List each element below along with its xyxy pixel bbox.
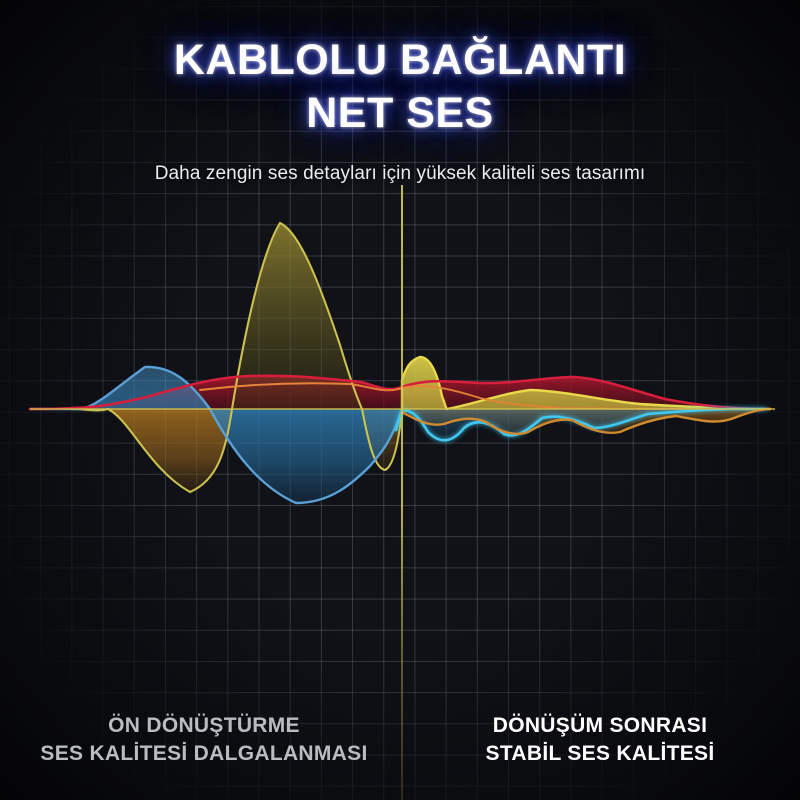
caption-left-line-2: SES KALİTESİ DALGALANMASI bbox=[8, 740, 400, 768]
title-line-1: KABLOLU BAĞLANTI bbox=[0, 34, 800, 87]
audio-waveform-banner: KABLOLU BAĞLANTI NET SES Daha zengin ses… bbox=[0, 0, 800, 800]
title-line-2: NET SES bbox=[0, 87, 800, 140]
conversion-divider-line bbox=[401, 185, 403, 800]
caption-after-conversion: DÖNÜŞÜM SONRASI STABİL SES KALİTESİ bbox=[404, 712, 796, 768]
caption-right-line-1: DÖNÜŞÜM SONRASI bbox=[404, 712, 796, 740]
series-yellow-left-fill bbox=[108, 409, 232, 492]
page-title: KABLOLU BAĞLANTI NET SES bbox=[0, 34, 800, 141]
caption-left-line-1: ÖN DÖNÜŞTÜRME bbox=[8, 712, 400, 740]
caption-before-conversion: ÖN DÖNÜŞTÜRME SES KALİTESİ DALGALANMASI bbox=[8, 712, 400, 768]
page-subtitle: Daha zengin ses detayları için yüksek ka… bbox=[0, 163, 800, 185]
caption-right-line-2: STABİL SES KALİTESİ bbox=[404, 740, 796, 768]
